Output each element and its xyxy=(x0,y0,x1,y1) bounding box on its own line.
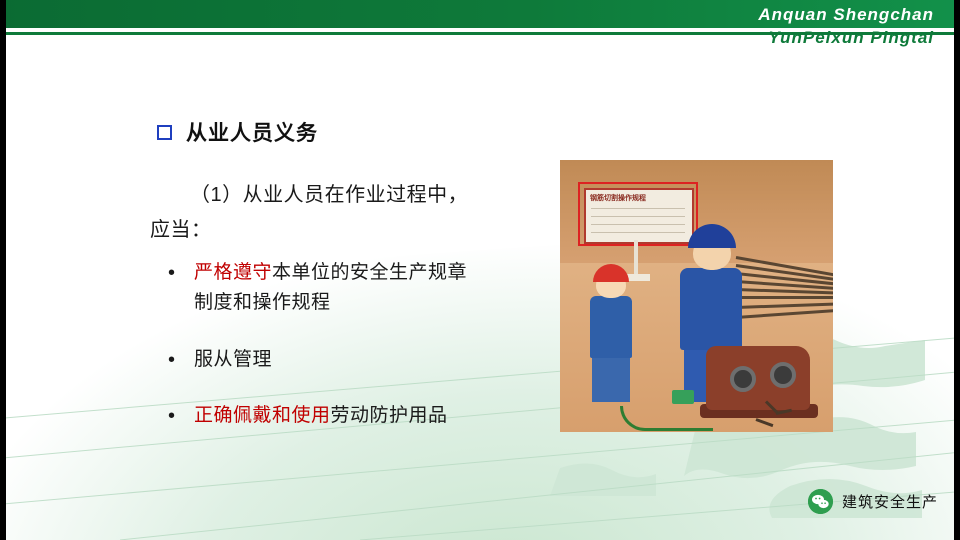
banner-title-line2: YunPeixun Pingtai xyxy=(768,26,934,51)
left-letterbox xyxy=(0,0,6,540)
bullet-dot-icon: • xyxy=(168,345,194,375)
list-item: • 正确佩戴和使用劳动防护用品 xyxy=(168,401,558,431)
intro-line-1: （1）从业人员在作业过程中， xyxy=(150,178,550,213)
intro-paragraph: （1）从业人员在作业过程中， 应当： xyxy=(150,178,550,248)
list-item: • 严格遵守本单位的安全生产规章 制度和操作规程 xyxy=(168,258,558,319)
bullet-dot-icon: • xyxy=(168,401,194,431)
list-item-plain: 劳动防护用品 xyxy=(331,405,448,426)
list-item-plain: 本单位的安全生产规章 xyxy=(272,262,467,283)
worker-red-body xyxy=(590,296,632,358)
machine-wheel xyxy=(730,366,756,392)
rebar-line xyxy=(736,296,833,299)
banner-title-line1: Anquan Shengchan xyxy=(758,5,934,25)
square-bullet-icon xyxy=(157,125,172,140)
intro-line-2: 应当： xyxy=(150,213,550,248)
power-cable xyxy=(620,406,713,431)
footer-logo-text: 建筑安全生产 xyxy=(842,491,938,512)
worker-red-legs xyxy=(592,356,630,402)
footer-logo: 建筑安全生产 xyxy=(808,489,938,514)
list-item-highlight: 正确佩戴和使用 xyxy=(194,405,331,426)
bullet-dot-icon: • xyxy=(168,258,194,319)
list-item-text-line2: 制度和操作规程 xyxy=(194,288,558,318)
wechat-glyph xyxy=(808,489,833,514)
illustration-image: 钢筋切割操作规程 xyxy=(560,160,833,432)
sign-post xyxy=(634,240,638,276)
page-title-text: 从业人员义务 xyxy=(186,117,318,147)
machine-wheel xyxy=(770,362,796,388)
list-item: • 服从管理 xyxy=(168,345,558,375)
list-item-text: 服从管理 xyxy=(194,345,558,375)
right-letterbox xyxy=(954,0,960,540)
list-item-text: 严格遵守本单位的安全生产规章 制度和操作规程 xyxy=(194,258,558,319)
list-item-text: 正确佩戴和使用劳动防护用品 xyxy=(194,401,558,431)
machine-switch-box xyxy=(672,390,694,404)
list-item-highlight: 严格遵守 xyxy=(194,262,272,283)
bullet-list: • 严格遵守本单位的安全生产规章 制度和操作规程 • 服从管理 • 正确佩戴和使… xyxy=(168,258,558,458)
worker-blue-body xyxy=(680,268,742,350)
wechat-icon xyxy=(808,489,833,514)
sign-red-frame xyxy=(578,182,698,246)
slide: Anquan Shengchan YunPeixun Pingtai 从业人员义… xyxy=(0,0,960,540)
page-title: 从业人员义务 xyxy=(157,117,318,147)
